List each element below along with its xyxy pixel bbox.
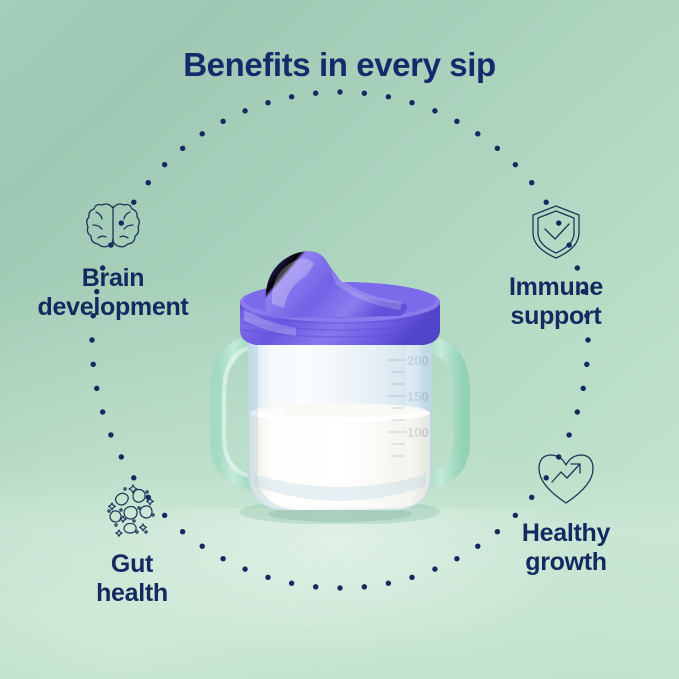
benefit-label: Healthy growth (522, 519, 610, 576)
benefit-immune-support[interactable]: Immune support (456, 203, 656, 330)
sippy-cup-image: 200 150 100 (210, 224, 470, 524)
heart-growth-icon (466, 451, 666, 507)
benefit-label: Gut health (96, 550, 168, 607)
page-title: Benefits in every sip (0, 46, 679, 84)
cup-lid (240, 251, 440, 345)
benefit-healthy-growth[interactable]: Healthy growth (466, 451, 666, 576)
benefit-label: Brain development (38, 264, 189, 321)
gut-bacteria-icon (32, 480, 232, 538)
benefit-brain-development[interactable]: Brain development (13, 200, 213, 321)
brain-icon (13, 200, 213, 252)
shield-check-icon (456, 203, 656, 261)
benefit-label: Immune support (509, 273, 603, 330)
promo-graphic: Benefits in every sip (0, 0, 679, 679)
benefit-gut-health[interactable]: Gut health (32, 480, 232, 607)
